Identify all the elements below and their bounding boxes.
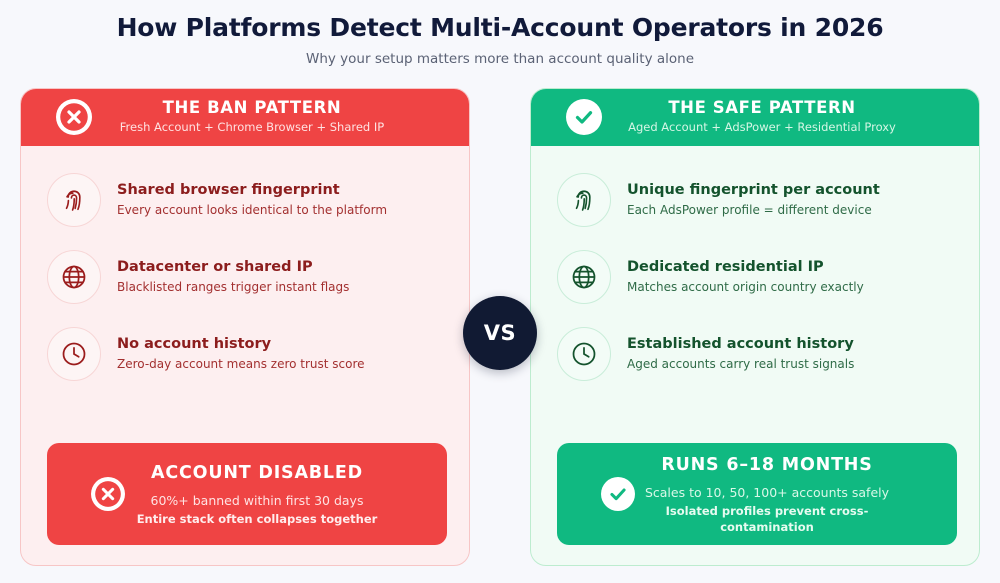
ban-feature-text: Datacenter or shared IP Blacklisted rang…: [117, 258, 447, 296]
safe-feature-text: Established account history Aged account…: [627, 335, 957, 373]
safe-feature-row: Unique fingerprint per account Each AdsP…: [557, 162, 957, 239]
ban-outcome-line1: 60%+ banned within first 30 days: [125, 492, 389, 510]
safe-feature-subtitle: Each AdsPower profile = different device: [627, 202, 957, 219]
safe-feature-text: Dedicated residential IP Matches account…: [627, 258, 957, 296]
check-circle-icon: [566, 99, 602, 135]
ban-feature-list: Shared browser fingerprint Every account…: [21, 146, 469, 438]
safe-feature-title: Dedicated residential IP: [627, 258, 957, 277]
clock-icon: [557, 327, 611, 381]
safe-outcome-text: RUNS 6–18 MONTHS Scales to 10, 50, 100+ …: [635, 453, 943, 535]
ban-card-title: THE BAN PATTERN: [92, 98, 413, 118]
safe-feature-row: Dedicated residential IP Matches account…: [557, 239, 957, 316]
safe-pattern-card: THE SAFE PATTERN Aged Account + AdsPower…: [530, 88, 980, 566]
page-subtitle: Why your setup matters more than account…: [0, 50, 1000, 68]
globe-icon: [557, 250, 611, 304]
ban-pattern-card: THE BAN PATTERN Fresh Account + Chrome B…: [20, 88, 470, 566]
globe-icon: [47, 250, 101, 304]
safe-outcome-line2: Isolated profiles prevent cross-contamin…: [635, 503, 899, 535]
safe-outcome-line1: Scales to 10, 50, 100+ accounts safely: [635, 484, 899, 502]
safe-feature-subtitle: Matches account origin country exactly: [627, 279, 957, 296]
ban-feature-row: Shared browser fingerprint Every account…: [47, 162, 447, 239]
ban-outcome-title: ACCOUNT DISABLED: [125, 461, 389, 485]
safe-card-header-text: THE SAFE PATTERN Aged Account + AdsPower…: [602, 98, 963, 135]
clock-icon: [47, 327, 101, 381]
safe-outcome-title: RUNS 6–18 MONTHS: [635, 453, 899, 477]
ban-card-header: THE BAN PATTERN Fresh Account + Chrome B…: [20, 88, 470, 146]
ban-feature-title: Datacenter or shared IP: [117, 258, 447, 277]
ban-feature-title: Shared browser fingerprint: [117, 181, 447, 200]
ban-card-subtitle: Fresh Account + Chrome Browser + Shared …: [92, 119, 413, 135]
safe-card-subtitle: Aged Account + AdsPower + Residential Pr…: [602, 119, 923, 135]
ban-feature-subtitle: Zero-day account means zero trust score: [117, 356, 447, 373]
safe-feature-title: Established account history: [627, 335, 957, 354]
x-circle-icon: [91, 477, 125, 511]
safe-feature-row: Established account history Aged account…: [557, 316, 957, 393]
page-title: How Platforms Detect Multi-Account Opera…: [0, 12, 1000, 44]
safe-outcome-banner: RUNS 6–18 MONTHS Scales to 10, 50, 100+ …: [557, 443, 957, 545]
ban-feature-text: Shared browser fingerprint Every account…: [117, 181, 447, 219]
safe-card-header: THE SAFE PATTERN Aged Account + AdsPower…: [530, 88, 980, 146]
page-header: How Platforms Detect Multi-Account Opera…: [0, 0, 1000, 68]
ban-feature-subtitle: Blacklisted ranges trigger instant flags: [117, 279, 447, 296]
ban-feature-text: No account history Zero-day account mean…: [117, 335, 447, 373]
safe-feature-title: Unique fingerprint per account: [627, 181, 957, 200]
check-circle-icon: [601, 477, 635, 511]
ban-outcome-banner: ACCOUNT DISABLED 60%+ banned within firs…: [47, 443, 447, 545]
ban-outcome-line2: Entire stack often collapses together: [125, 511, 389, 527]
safe-card-title: THE SAFE PATTERN: [602, 98, 923, 118]
ban-feature-row: No account history Zero-day account mean…: [47, 316, 447, 393]
ban-card-header-text: THE BAN PATTERN Fresh Account + Chrome B…: [92, 98, 453, 135]
safe-feature-text: Unique fingerprint per account Each AdsP…: [627, 181, 957, 219]
x-circle-icon: [56, 99, 92, 135]
ban-feature-title: No account history: [117, 335, 447, 354]
ban-outcome-text: ACCOUNT DISABLED 60%+ banned within firs…: [125, 461, 433, 527]
safe-feature-subtitle: Aged accounts carry real trust signals: [627, 356, 957, 373]
fingerprint-icon: [557, 173, 611, 227]
fingerprint-icon: [47, 173, 101, 227]
ban-feature-row: Datacenter or shared IP Blacklisted rang…: [47, 239, 447, 316]
vs-badge: VS: [463, 296, 537, 370]
safe-feature-list: Unique fingerprint per account Each AdsP…: [531, 146, 979, 438]
ban-feature-subtitle: Every account looks identical to the pla…: [117, 202, 447, 219]
